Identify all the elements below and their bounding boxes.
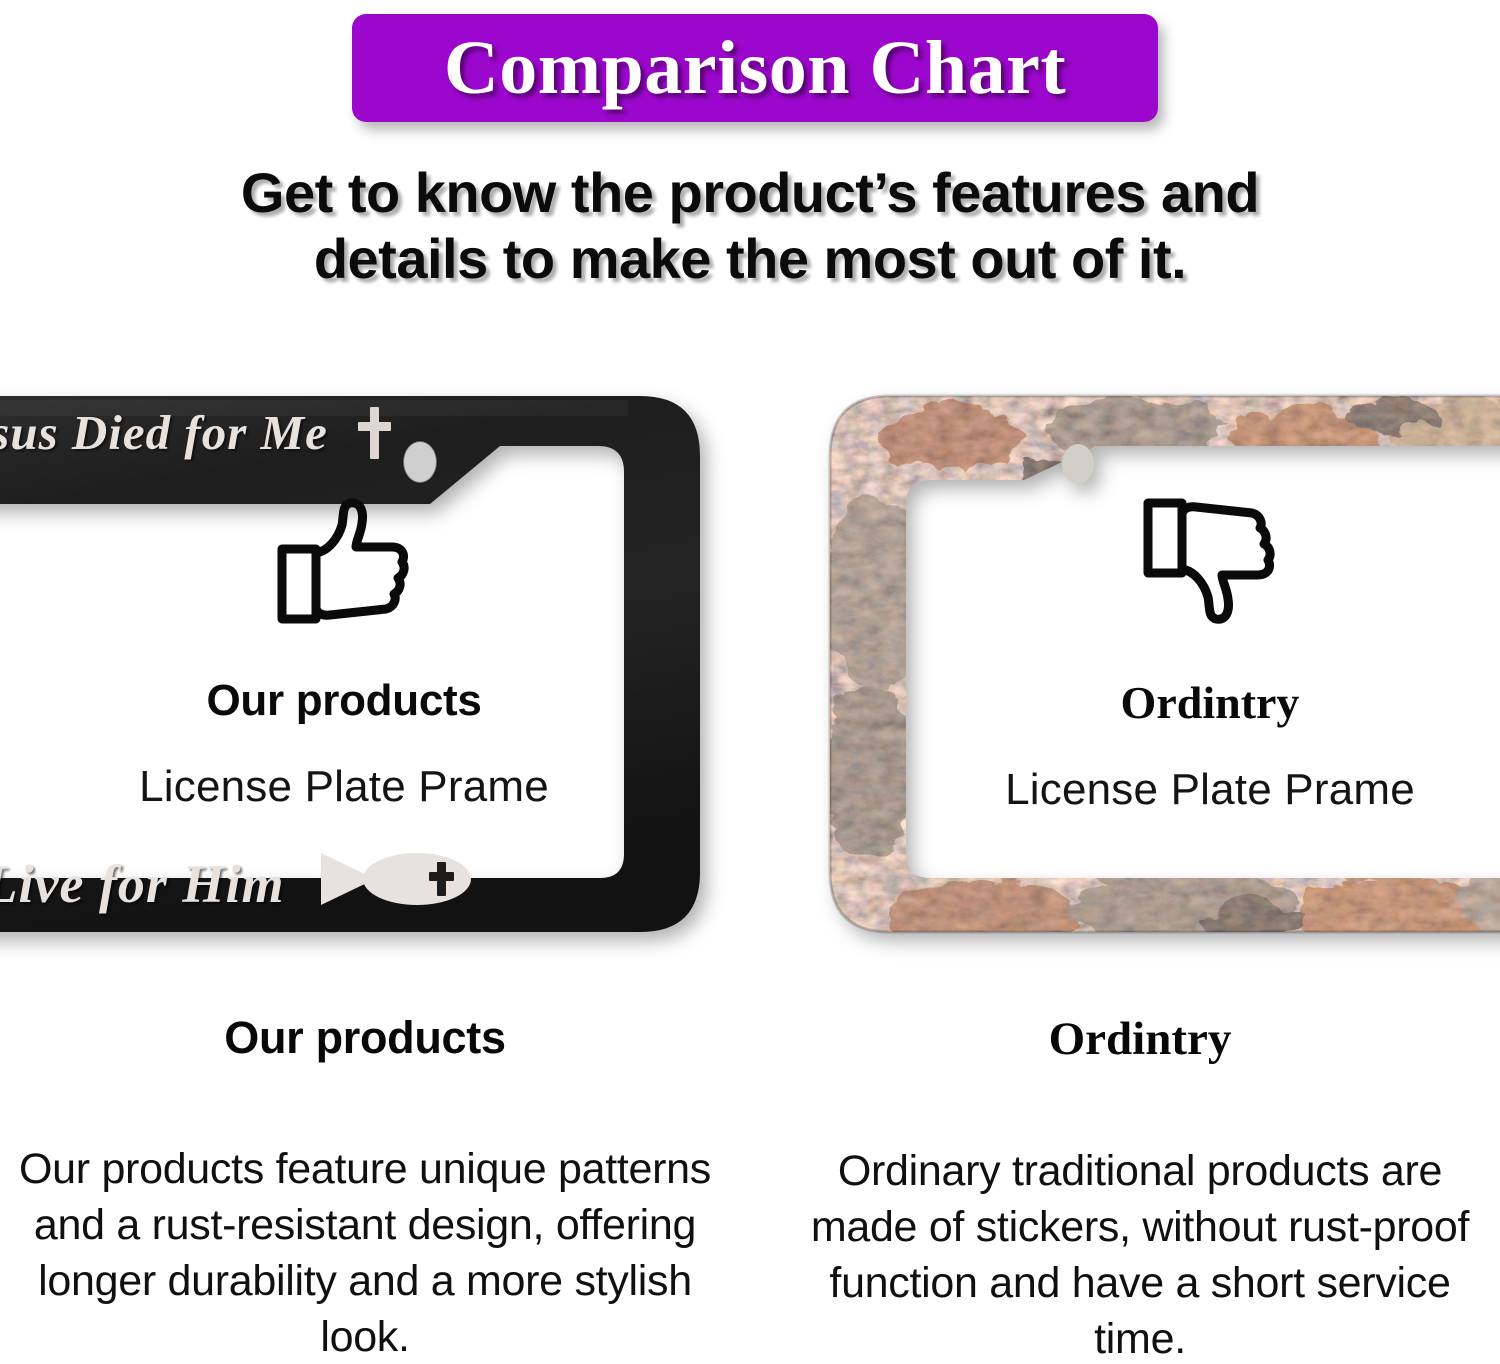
comparison-column-our-products: Our products Our products feature unique… [10, 1012, 720, 1364]
comparison-body-left: Our products feature unique patterns and… [10, 1142, 720, 1364]
our-product-license-plate-frame [0, 386, 702, 942]
comparison-heading-right: Ordintry [790, 1012, 1490, 1066]
comparison-column-ordintry: Ordintry Ordinary traditional products a… [790, 1012, 1490, 1364]
comparison-heading-left: Our products [10, 1012, 720, 1064]
ordintry-license-plate-frame [828, 386, 1500, 942]
comparison-body-right: Ordinary traditional products are made o… [790, 1144, 1490, 1364]
comparison-chart-page: Comparison Chart Get to know the product… [0, 0, 1500, 1364]
